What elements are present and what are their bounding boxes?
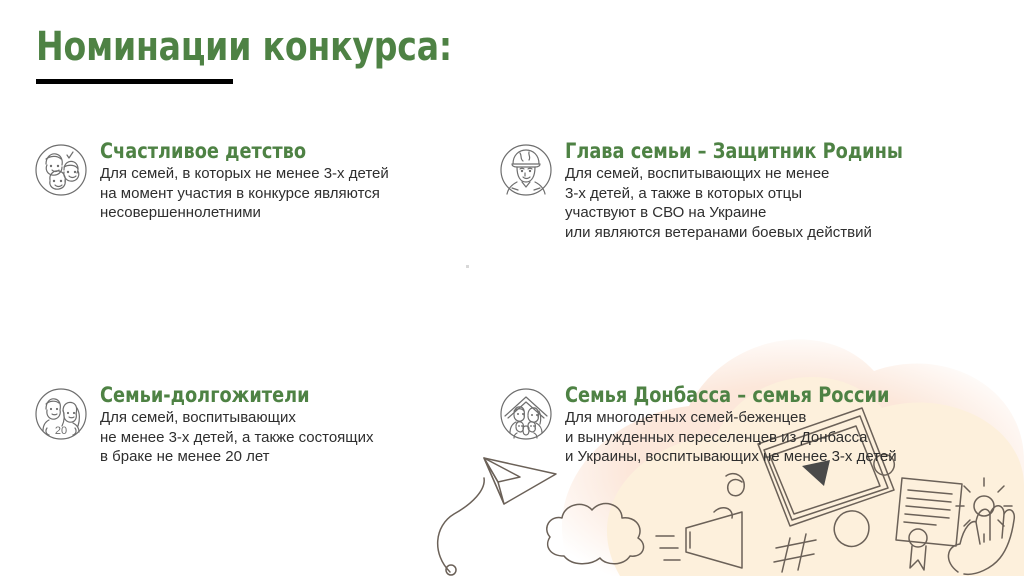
svg-text:20: 20 [55, 425, 67, 437]
slide-canvas: Номинации конкурса: [0, 0, 1024, 576]
nomination-description: Для многодетных семей-беженцев и вынужде… [565, 408, 910, 467]
page-title-block: Номинации конкурса: [36, 24, 488, 84]
nomination-card-donbass-family[interactable]: Семья Донбасса – семья России Для многод… [466, 382, 1024, 467]
cloud-icon [547, 504, 644, 564]
page-title: Номинации конкурса: [36, 24, 452, 70]
nomination-card-happy-childhood[interactable]: Счастливое детство Для семей, в которых … [0, 138, 466, 242]
motion-lines-icon [656, 536, 680, 560]
nominations-grid: Счастливое детство Для семей, в которых … [0, 138, 1024, 467]
nomination-title: Семьи-долгожители [100, 384, 357, 407]
nomination-description: Для семей, воспитывающих не менее 3-х де… [100, 408, 374, 467]
title-underline-rule [36, 79, 233, 84]
nominations-row-1: Счастливое детство Для семей, в которых … [0, 138, 1024, 242]
nomination-title: Глава семьи – Защитник Родины [565, 140, 903, 163]
hash-icon [774, 534, 816, 572]
hand-icon [948, 506, 1014, 575]
nomination-description: Для семей, воспитывающих не менее 3-х де… [565, 164, 925, 242]
blob-cream-secondary [841, 460, 1024, 576]
three-children-faces-icon [33, 142, 89, 198]
certificate-seal-icon [896, 478, 962, 570]
nomination-text-block: Семья Донбасса – семья России Для многод… [554, 382, 910, 467]
megaphone-icon [686, 508, 742, 568]
small-spiral-icon [726, 474, 744, 496]
nomination-card-head-of-family[interactable]: Глава семьи – Защитник Родины Для семей,… [466, 138, 1024, 242]
nomination-title: Счастливое детство [100, 140, 371, 163]
spiral-icon [438, 478, 485, 575]
nominations-row-2: 20 Семьи-долгожители Для семей, воспитыв… [0, 382, 1024, 467]
elderly-couple-20-years-icon: 20 [33, 386, 89, 442]
family-under-roof-icon [498, 386, 554, 442]
nomination-title: Семья Донбасса – семья России [565, 384, 889, 407]
nomination-text-block: Семьи-долгожители Для семей, воспитывающ… [89, 382, 374, 467]
nomination-text-block: Глава семьи – Защитник Родины Для семей,… [554, 138, 925, 242]
nomination-description: Для семей, в которых не менее 3-х детей … [100, 164, 389, 223]
sun-icon [956, 478, 1012, 542]
nomination-card-long-married[interactable]: 20 Семьи-долгожители Для семей, воспитыв… [0, 382, 466, 467]
soldier-helmet-icon [498, 142, 554, 198]
diamond-icon [834, 511, 869, 546]
nomination-text-block: Счастливое детство Для семей, в которых … [89, 138, 389, 223]
